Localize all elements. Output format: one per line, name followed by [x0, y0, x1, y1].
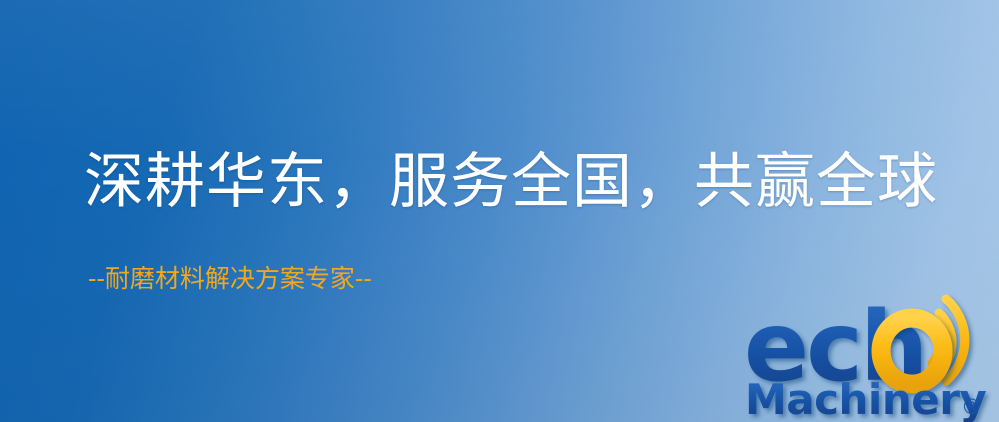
echo-machinery-logo[interactable]: ech Machinery ® [740, 288, 999, 422]
hero-banner: 深耕华东，服务全国，共赢全球 --耐磨材料解决方案专家-- [0, 0, 999, 422]
registered-trademark-icon: ® [961, 395, 982, 419]
page-subtitle: --耐磨材料解决方案专家-- [88, 266, 372, 291]
page-title: 深耕华东，服务全国，共赢全球 [84, 152, 938, 212]
logo-tagline: Machinery ® [745, 375, 986, 422]
svg-text:Machinery: Machinery [745, 375, 986, 422]
